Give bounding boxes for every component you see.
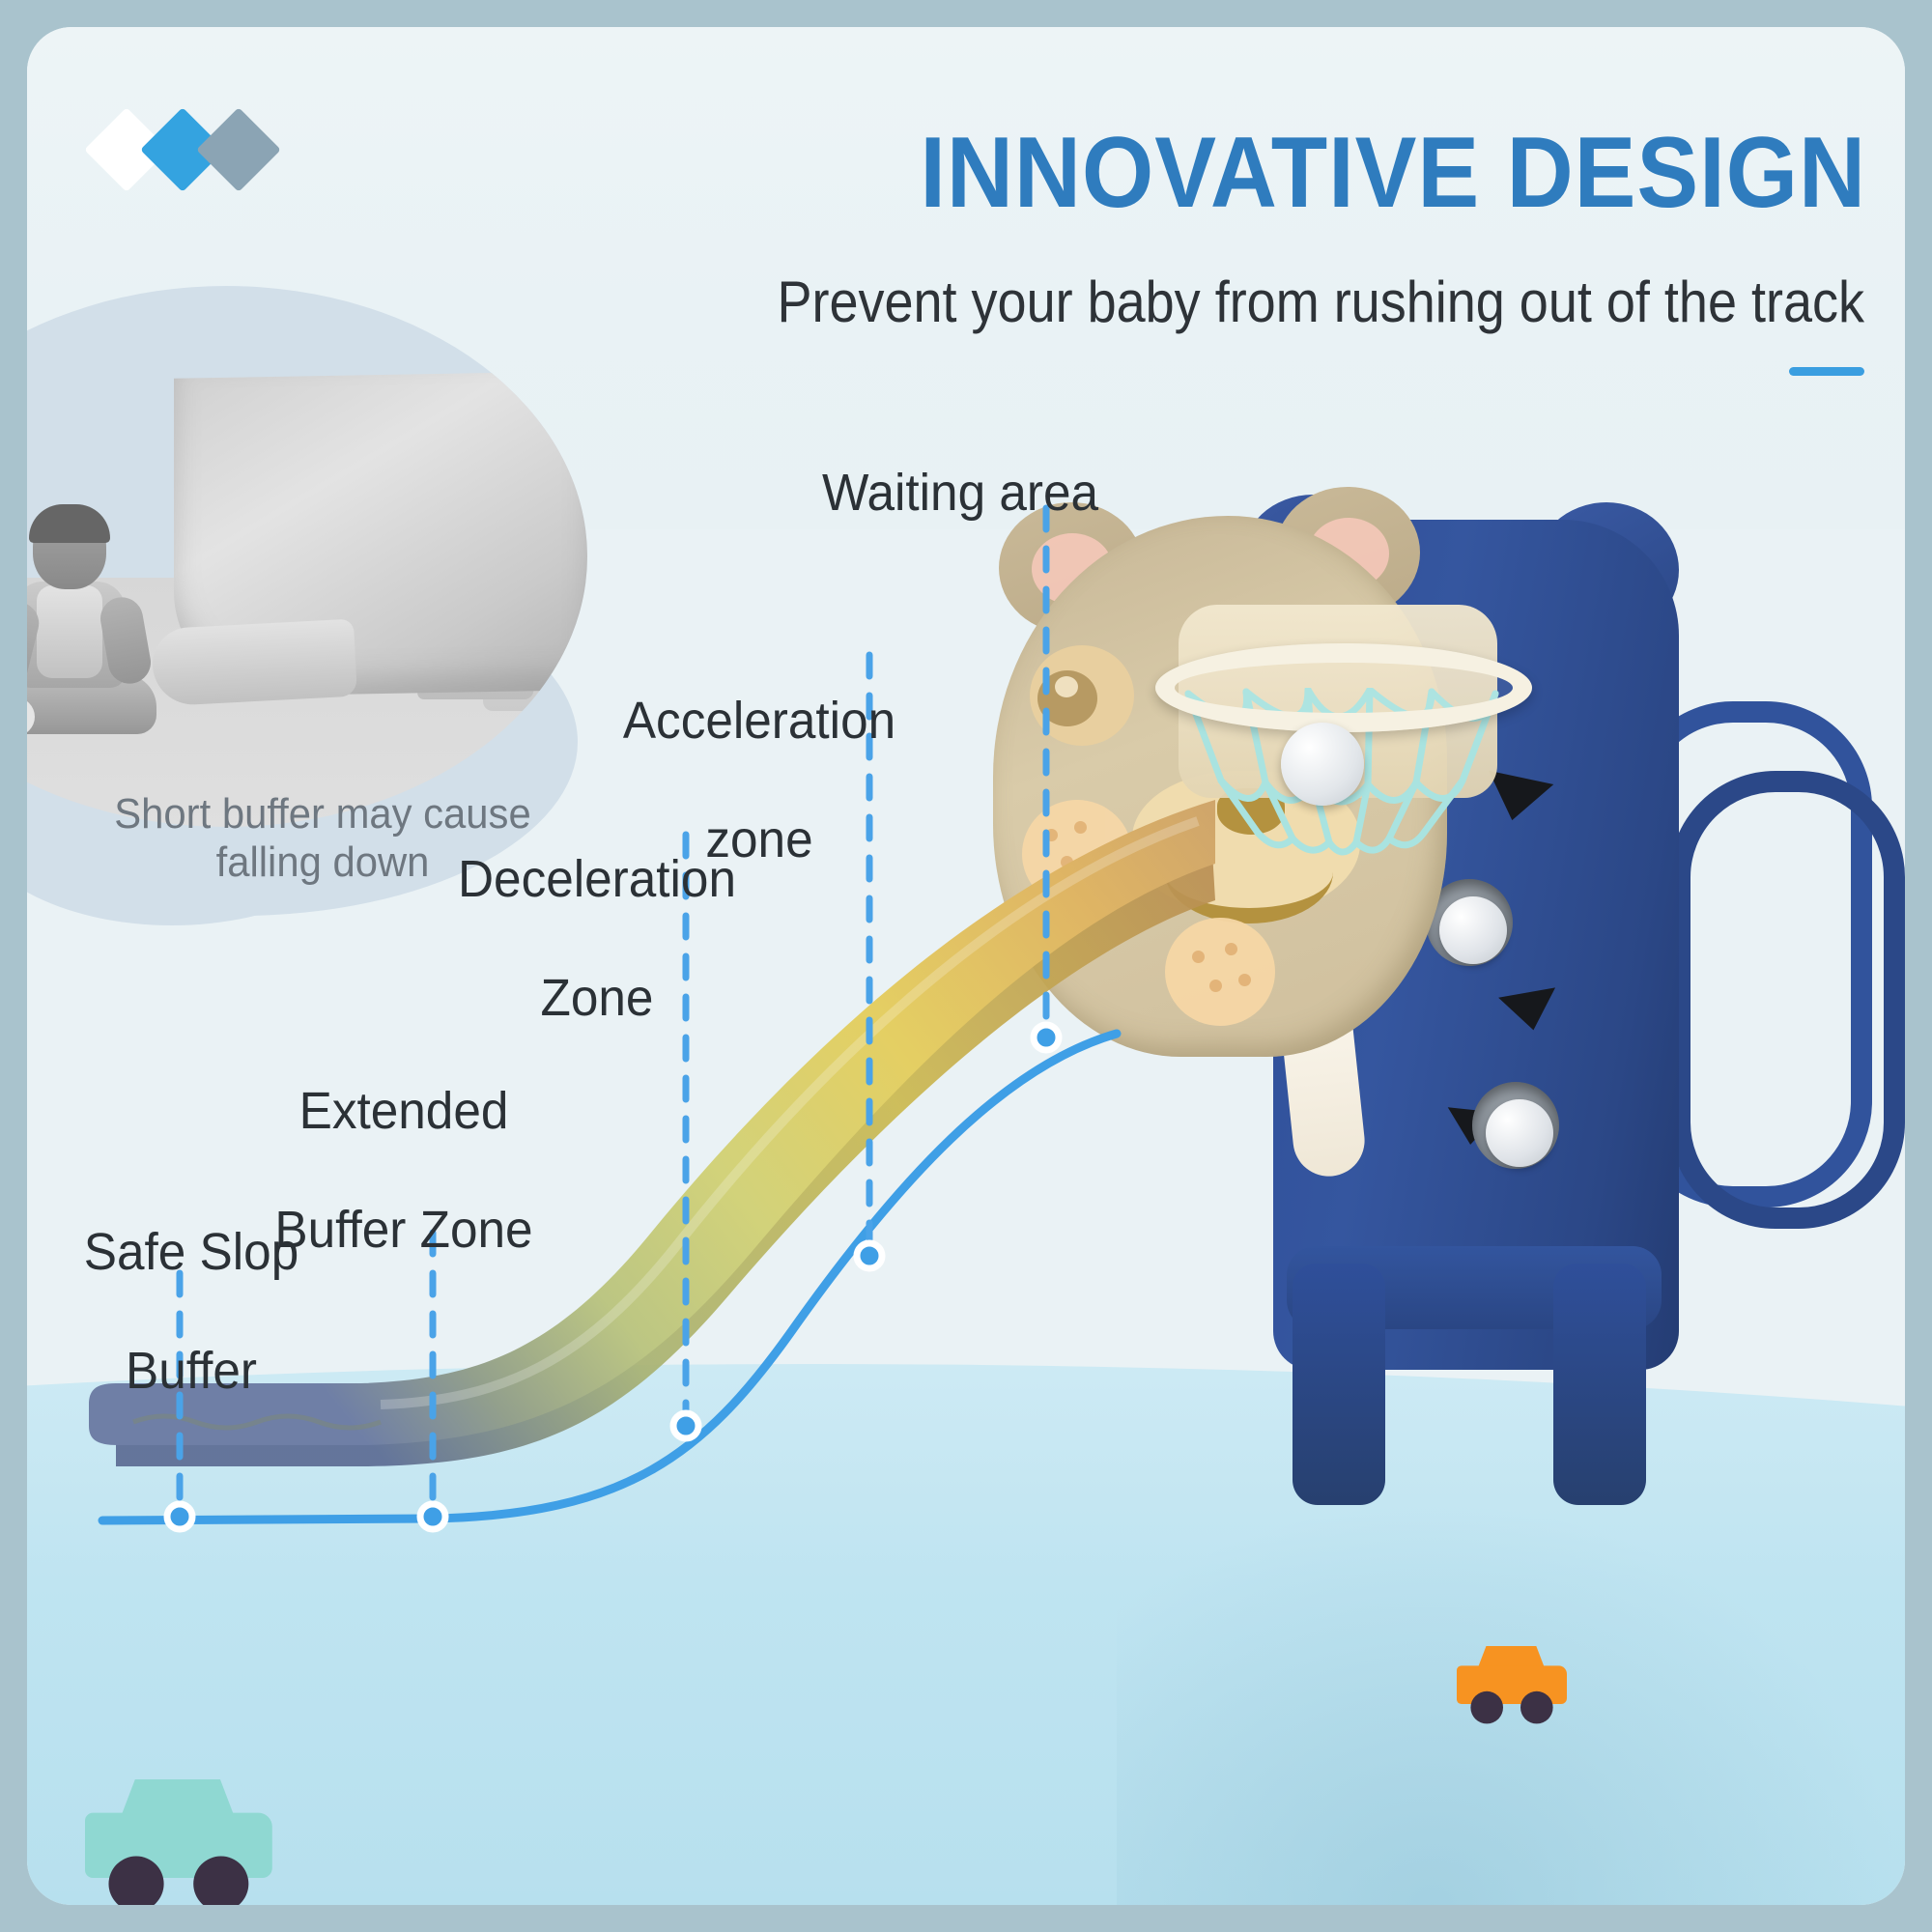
car-left-wheel-rear [193,1857,248,1905]
tower-ball [1486,1099,1553,1167]
label-extended-buffer-zone-line1: Extended [299,1082,509,1140]
slide-rail-inner [1669,771,1905,1229]
content-panel: INNOVATIVE DESIGN Prevent your baby from… [27,27,1905,1905]
warning-inset-bubble [27,286,587,827]
inset-photo [27,286,587,827]
label-deceleration-zone-line2: Zone [541,969,654,1027]
label-waiting-area: Waiting area [768,404,1153,523]
car-right-wheel-front [1470,1691,1503,1724]
label-extended-buffer-zone-line2: Buffer Zone [274,1201,532,1259]
tower-leg-right [1553,1264,1646,1505]
tower-ball [1439,896,1507,964]
infographic-canvas: INNOVATIVE DESIGN Prevent your baby from… [0,0,1932,1932]
bear-eye-highlight [1055,676,1078,697]
label-waiting-area-line1: Waiting area [822,464,1098,522]
inset-slide-lip [151,619,357,707]
hoop-basketball [1281,723,1364,806]
label-extended-buffer-zone: Extended Buffer Zone [239,1022,569,1260]
child-vest [37,585,102,678]
label-acceleration-zone-line2: zone [705,810,812,868]
hoop-rim [1155,643,1532,732]
inset-child [27,508,164,730]
page-title: INNOVATIVE DESIGN [174,116,1866,231]
label-acceleration-zone-line1: Acceleration [623,692,895,750]
header-divider [1789,367,1864,376]
car-left-wheel-front [108,1857,163,1905]
child-hair [29,504,110,543]
tower-leg-left [1293,1264,1385,1505]
car-right-wheel-rear [1520,1691,1553,1724]
label-acceleration-zone: Acceleration zone [605,632,913,869]
label-safe-slop-buffer-line2: Buffer [126,1342,257,1400]
slide-product [1051,481,1905,1505]
